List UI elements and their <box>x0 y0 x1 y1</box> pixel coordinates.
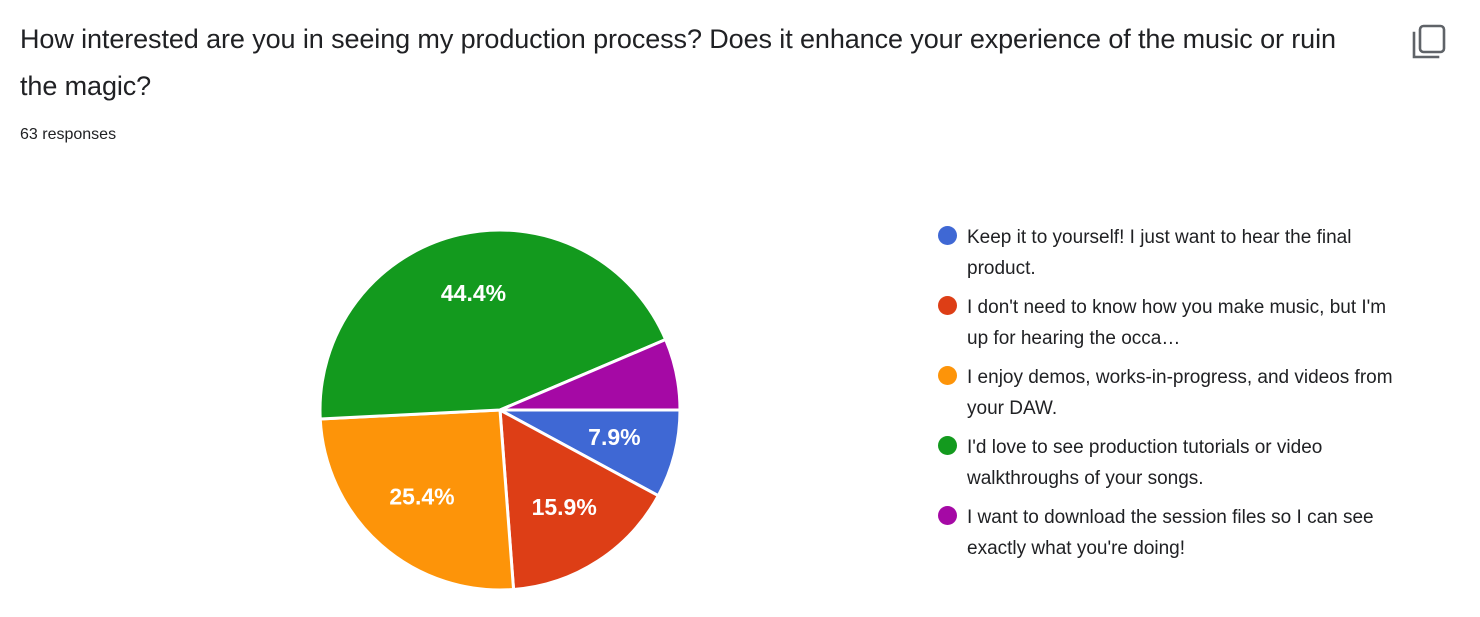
copy-icon <box>1409 23 1449 68</box>
legend-color-swatch <box>938 506 957 525</box>
legend-item-label: I don't need to know how you make music,… <box>967 292 1395 354</box>
chart-area: 7.9%15.9%25.4%44.4% Keep it to yourself!… <box>0 170 1480 617</box>
legend-color-swatch <box>938 226 957 245</box>
pie-chart[interactable]: 7.9%15.9%25.4%44.4% <box>300 210 700 610</box>
copy-chart-button[interactable] <box>1405 21 1453 69</box>
legend-item-label: I want to download the session files so … <box>967 502 1395 564</box>
legend-item[interactable]: I don't need to know how you make music,… <box>938 292 1438 354</box>
legend-item-label: Keep it to yourself! I just want to hear… <box>967 222 1395 284</box>
response-count: 63 responses <box>20 125 1360 145</box>
pie-slice-label: 7.9% <box>588 424 640 450</box>
legend-item[interactable]: Keep it to yourself! I just want to hear… <box>938 222 1438 284</box>
legend-color-swatch <box>938 366 957 385</box>
legend-color-swatch <box>938 296 957 315</box>
pie-slice-label: 25.4% <box>389 484 454 510</box>
pie-slice-label: 15.9% <box>532 494 597 520</box>
question-header: How interested are you in seeing my prod… <box>20 16 1360 145</box>
legend-item-label: I enjoy demos, works-in-progress, and vi… <box>967 362 1395 424</box>
legend-item[interactable]: I want to download the session files so … <box>938 502 1438 564</box>
legend-color-swatch <box>938 436 957 455</box>
chart-legend: Keep it to yourself! I just want to hear… <box>938 222 1438 572</box>
page-title: How interested are you in seeing my prod… <box>20 16 1360 110</box>
legend-item-label: I'd love to see production tutorials or … <box>967 432 1395 494</box>
pie-slice-label: 44.4% <box>441 280 506 306</box>
legend-item[interactable]: I enjoy demos, works-in-progress, and vi… <box>938 362 1438 424</box>
legend-item[interactable]: I'd love to see production tutorials or … <box>938 432 1438 494</box>
